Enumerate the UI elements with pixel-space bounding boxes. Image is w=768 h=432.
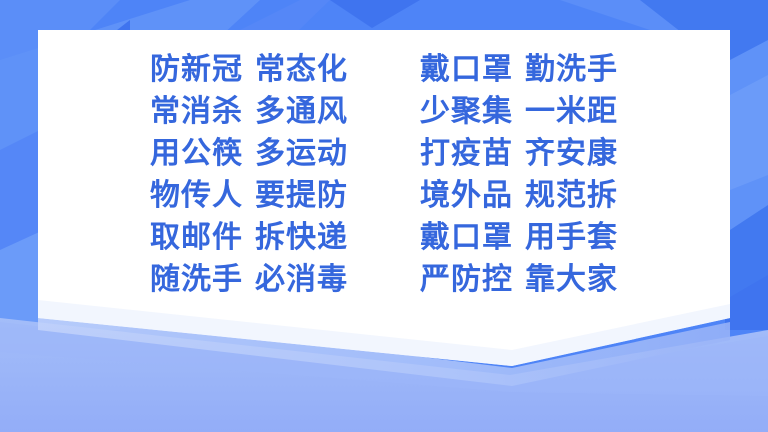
- slogan-line: 少聚集一米距: [420, 91, 618, 133]
- slogan-phrase-second: 多通风: [255, 94, 348, 129]
- slogan-phrase-first: 少聚集: [420, 94, 513, 129]
- slogan-phrase-first: 用公筷: [150, 136, 243, 171]
- slogan-column-left: 防新冠常态化 常消杀多通风 用公筷多运动 物传人要提防 取邮件拆快递 随洗手必消…: [150, 49, 348, 301]
- slogan-phrase-first: 防新冠: [150, 52, 243, 87]
- slogan-phrase-first: 戴口罩: [420, 220, 513, 255]
- slogan-line: 打疫苗齐安康: [420, 133, 618, 175]
- slogan-phrase-first: 物传人: [150, 178, 243, 213]
- slogan-phrase-second: 齐安康: [525, 136, 618, 171]
- slogan-phrase-first: 严防控: [420, 262, 513, 297]
- slogan-phrase-second: 常态化: [255, 52, 348, 87]
- slogan-phrase-second: 用手套: [525, 220, 618, 255]
- slogan-grid: 防新冠常态化 常消杀多通风 用公筷多运动 物传人要提防 取邮件拆快递 随洗手必消…: [38, 30, 730, 320]
- slogan-phrase-second: 多运动: [255, 136, 348, 171]
- slogan-phrase-second: 拆快递: [255, 220, 348, 255]
- slogan-phrase-second: 要提防: [255, 178, 348, 213]
- slogan-phrase-first: 随洗手: [150, 262, 243, 297]
- slogan-line: 境外品规范拆: [420, 175, 618, 217]
- slogan-line: 物传人要提防: [150, 175, 348, 217]
- slogan-line: 取邮件拆快递: [150, 217, 348, 259]
- slogan-phrase-second: 靠大家: [525, 262, 618, 297]
- slogan-phrase-second: 规范拆: [525, 178, 618, 213]
- slogan-line: 防新冠常态化: [150, 49, 348, 91]
- slogan-phrase-second: 一米距: [525, 94, 618, 129]
- slogan-line: 用公筷多运动: [150, 133, 348, 175]
- slogan-phrase-first: 常消杀: [150, 94, 243, 129]
- slogan-phrase-first: 境外品: [420, 178, 513, 213]
- slogan-phrase-first: 戴口罩: [420, 52, 513, 87]
- slogan-phrase-second: 勤洗手: [525, 52, 618, 87]
- slogan-line: 随洗手必消毒: [150, 259, 348, 301]
- slogan-phrase-first: 打疫苗: [420, 136, 513, 171]
- slogan-phrase-first: 取邮件: [150, 220, 243, 255]
- slogan-line: 常消杀多通风: [150, 91, 348, 133]
- slogan-line: 戴口罩勤洗手: [420, 49, 618, 91]
- slogan-phrase-second: 必消毒: [255, 262, 348, 297]
- slogan-line: 严防控靠大家: [420, 259, 618, 301]
- slogan-column-right: 戴口罩勤洗手 少聚集一米距 打疫苗齐安康 境外品规范拆 戴口罩用手套 严防控靠大…: [420, 49, 618, 301]
- poster-root: 防新冠常态化 常消杀多通风 用公筷多运动 物传人要提防 取邮件拆快递 随洗手必消…: [0, 0, 768, 432]
- slogan-line: 戴口罩用手套: [420, 217, 618, 259]
